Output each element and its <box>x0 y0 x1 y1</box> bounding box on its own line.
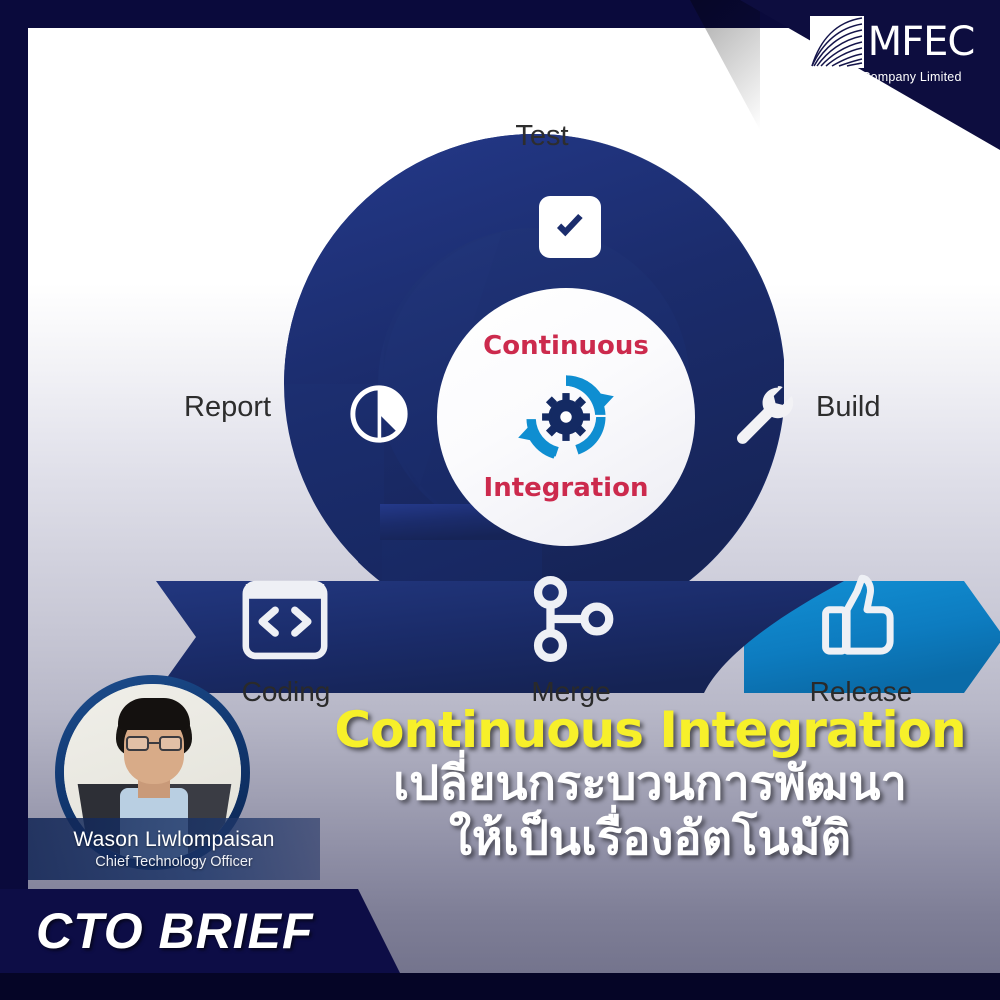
headline-thai-line2: ให้เป็นเรื่องอัตโนมัติ <box>330 813 970 866</box>
ci-center-line2: Integration <box>484 475 649 501</box>
ci-center-disc: Continuous <box>437 288 695 546</box>
mfec-logo: MFEC Public Company Limited <box>806 8 978 92</box>
frame-left-border <box>0 0 28 1000</box>
mfec-logo-word: MFEC <box>868 22 975 62</box>
speaker-name: Wason Liwlompaisan <box>73 828 274 851</box>
ci-diagram: Test Report Build <box>56 56 1000 696</box>
refresh-gear-icon <box>514 365 618 469</box>
wrench-icon <box>728 381 800 451</box>
checkmark-icon <box>539 196 601 258</box>
cto-brief-banner: CTO BRIEF <box>0 889 400 973</box>
ring-label-build: Build <box>816 391 881 424</box>
speaker-nameplate: Wason Liwlompaisan Chief Technology Offi… <box>28 818 320 880</box>
headline-english: Continuous Integration <box>330 705 970 756</box>
code-window-icon <box>236 574 334 666</box>
cto-brief-label: CTO BRIEF <box>36 906 314 956</box>
git-merge-icon <box>522 571 622 667</box>
headline-block: Continuous Integration เปลี่ยนกระบวนการพ… <box>330 705 970 865</box>
poster-root: Test Report Build <box>0 0 1000 1000</box>
thumbs-up-icon <box>814 568 910 668</box>
headline-thai-line1: เปลี่ยนกระบวนการพัฒนา <box>330 758 970 811</box>
mfec-swoosh-icon <box>810 16 864 68</box>
ring-label-test: Test <box>56 120 1000 153</box>
ring-label-report: Report <box>184 391 271 424</box>
frame-bottom-border <box>0 973 1000 1000</box>
mfec-logo-subtitle: Public Company Limited <box>822 70 961 84</box>
ci-center-line1: Continuous <box>483 333 649 359</box>
pie-chart-icon <box>346 381 412 447</box>
speaker-role: Chief Technology Officer <box>95 854 252 870</box>
